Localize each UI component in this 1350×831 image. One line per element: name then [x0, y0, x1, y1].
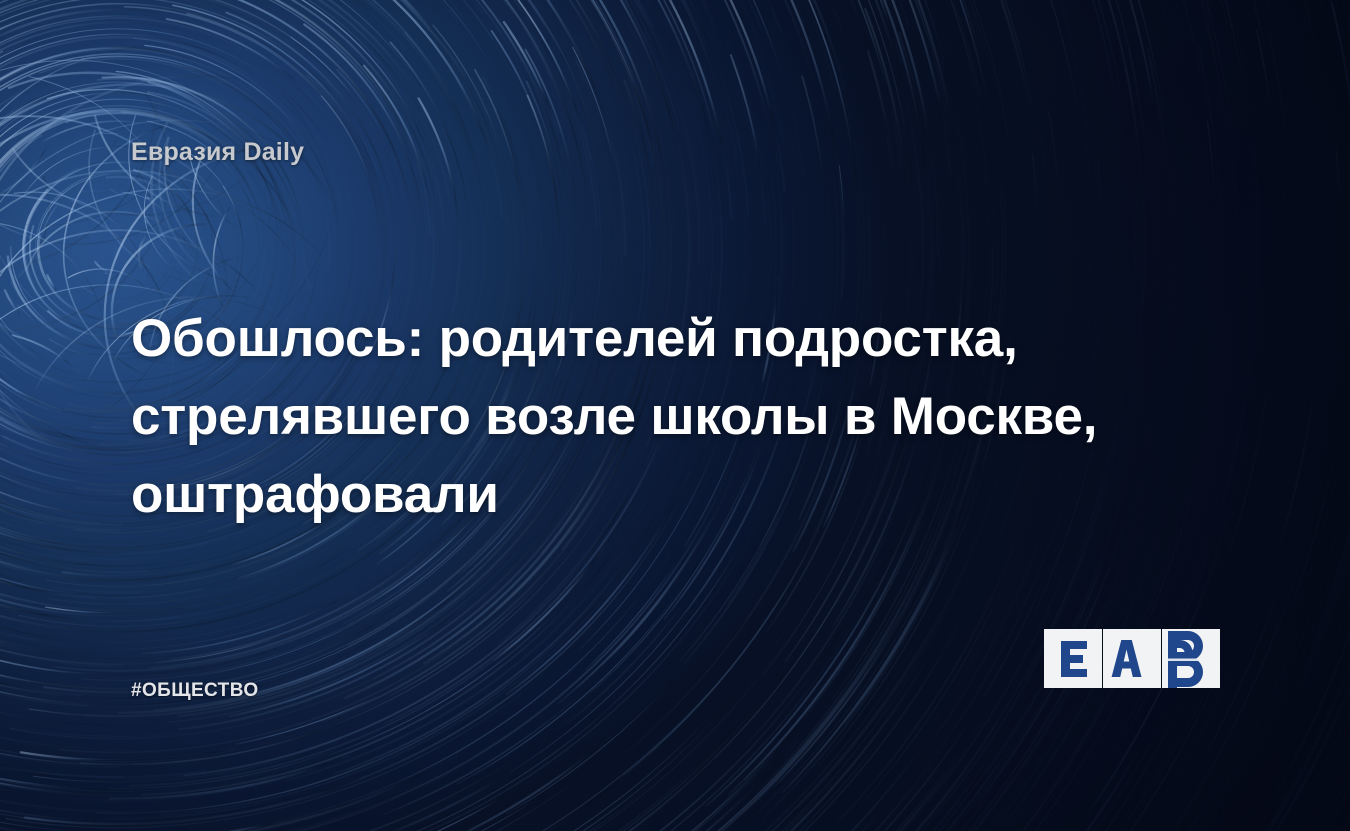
brand-title: Евразия Daily [131, 138, 304, 167]
eadaily-logo[interactable] [1044, 629, 1220, 688]
logo-tile-d-seam [1162, 659, 1220, 662]
page-title: Обошлось: родителей подростка, стрелявше… [131, 300, 1191, 534]
headline-line-3: оштрафовали [131, 456, 1191, 534]
headline-line-1: Обошлось: родителей подростка, [131, 300, 1191, 378]
news-card: Евразия Daily Обошлось: родителей подрос… [0, 0, 1350, 831]
category-tag[interactable]: #ОБЩЕСТВО [131, 680, 259, 702]
headline-line-2: стрелявшего возле школы в Москве, [131, 378, 1191, 456]
